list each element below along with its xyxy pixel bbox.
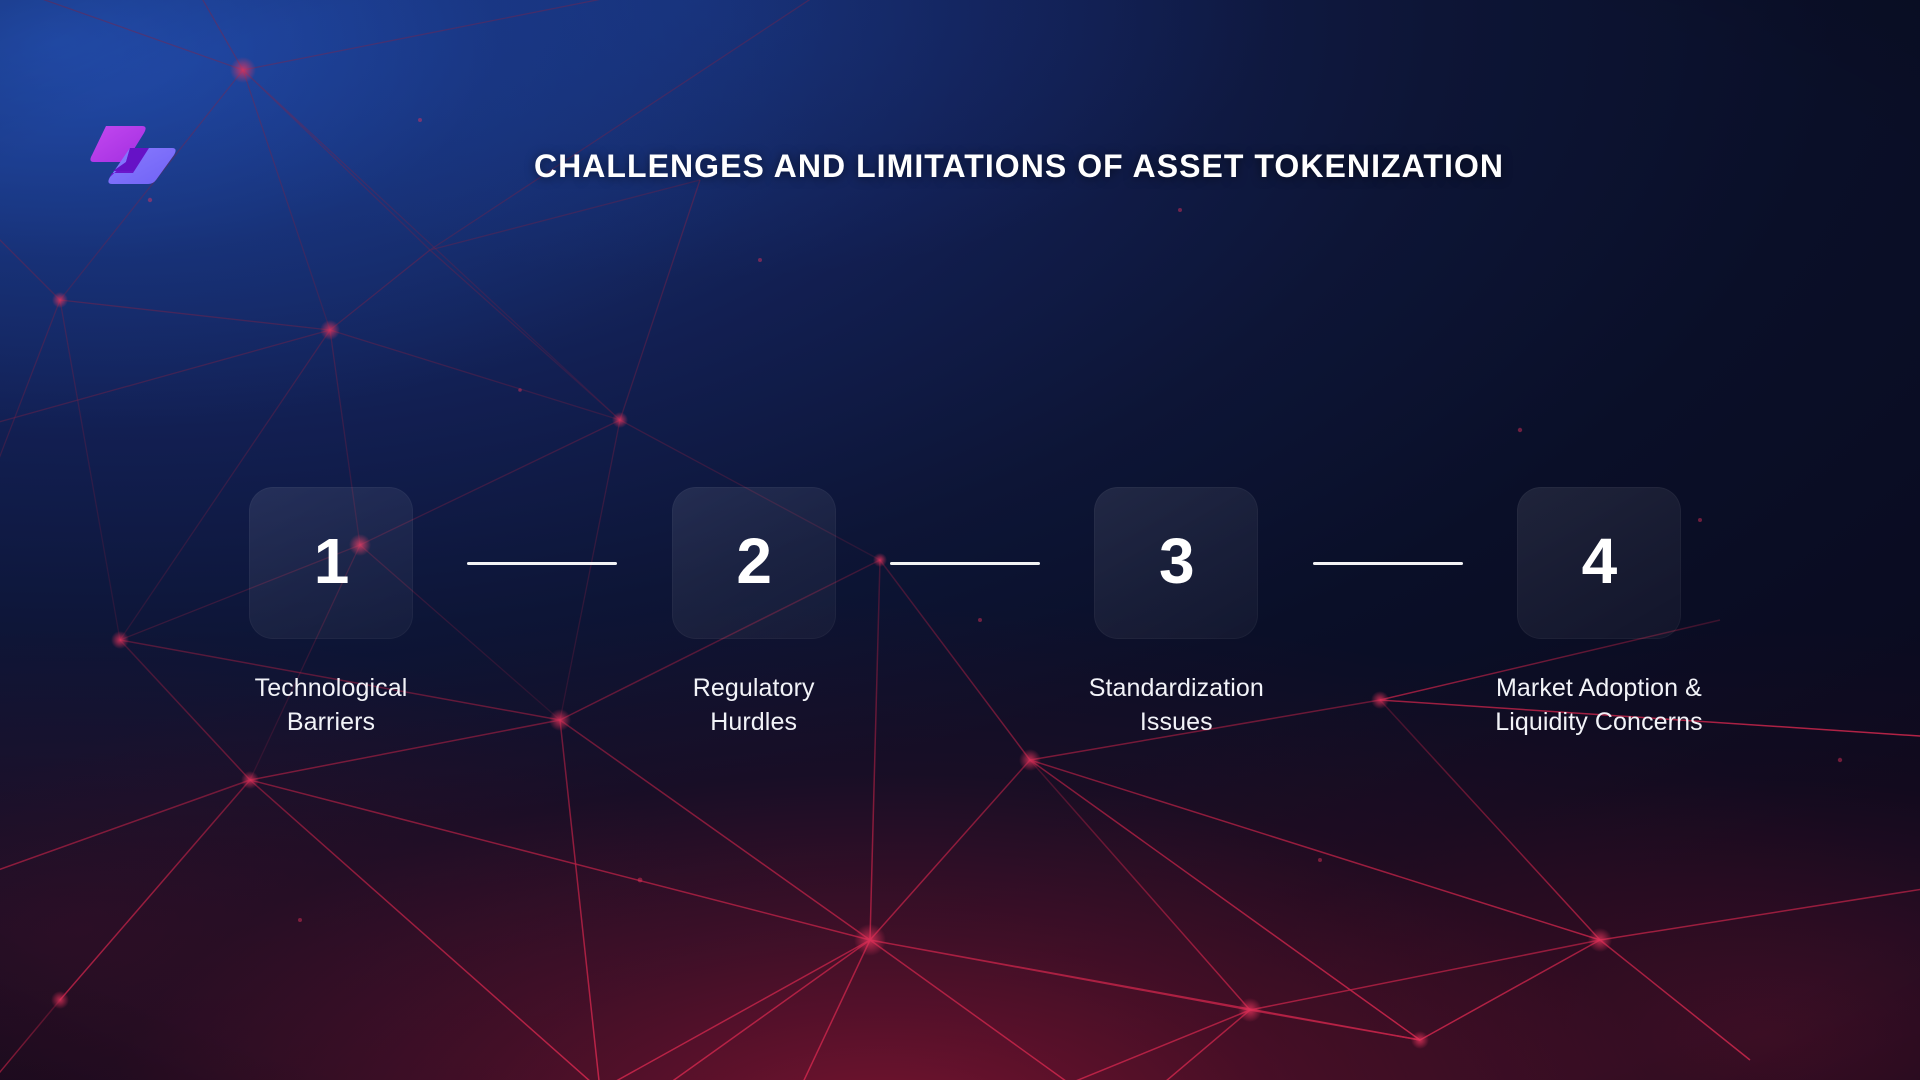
steps-row: 1 Technological Barriers 2 Regulatory Hu… xyxy=(215,487,1715,740)
step-number-2: 2 xyxy=(736,529,771,593)
step-item-1[interactable]: 1 Technological Barriers xyxy=(215,487,447,740)
step-label-2: Regulatory Hurdles xyxy=(693,672,815,740)
connector-3-4 xyxy=(1313,487,1463,639)
step-number-1: 1 xyxy=(314,529,349,593)
step-card-3[interactable]: 3 xyxy=(1094,487,1258,639)
step-card-2[interactable]: 2 xyxy=(672,487,836,639)
step-card-4[interactable]: 4 xyxy=(1517,487,1681,639)
connector-line-icon xyxy=(1313,562,1463,565)
step-label-4: Market Adoption & Liquidity Concerns xyxy=(1495,672,1702,740)
step-number-4: 4 xyxy=(1582,529,1617,593)
step-label-1: Technological Barriers xyxy=(255,672,408,740)
connector-2-3 xyxy=(890,487,1040,639)
connector-1-2 xyxy=(467,487,617,639)
connector-line-icon xyxy=(890,562,1040,565)
step-label-3: Standardization Issues xyxy=(1089,672,1264,740)
connector-line-icon xyxy=(467,562,617,565)
step-number-3: 3 xyxy=(1159,529,1194,593)
page-title: CHALLENGES AND LIMITATIONS OF ASSET TOKE… xyxy=(0,148,1920,185)
step-item-4[interactable]: 4 Market Adoption & Liquidity Concerns xyxy=(1483,487,1715,740)
step-item-3[interactable]: 3 Standardization Issues xyxy=(1060,487,1292,740)
step-item-2[interactable]: 2 Regulatory Hurdles xyxy=(638,487,870,740)
slide-canvas: CHALLENGES AND LIMITATIONS OF ASSET TOKE… xyxy=(0,0,1920,1080)
step-card-1[interactable]: 1 xyxy=(249,487,413,639)
